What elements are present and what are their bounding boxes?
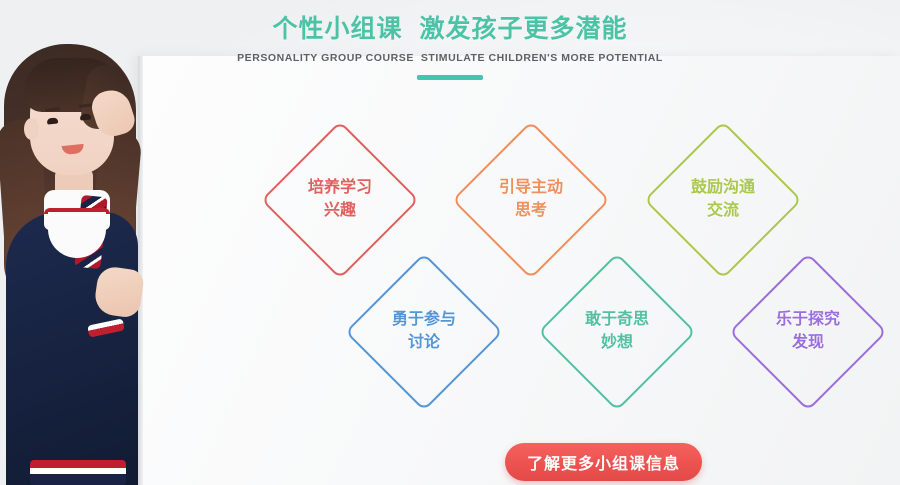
diamond-card-5-line2: 妙想 (601, 332, 633, 355)
whiteboard-panel (138, 56, 900, 485)
promo-banner: 个性小组课 激发孩子更多潜能 PERSONALITY GROUP COURSE … (0, 0, 900, 485)
diamond-card-2-line1: 引导主动 (499, 177, 563, 200)
page-title-part2: 激发孩子更多潜能 (419, 15, 627, 43)
header: 个性小组课 激发孩子更多潜能 PERSONALITY GROUP COURSE … (0, 0, 900, 80)
page-subtitle: PERSONALITY GROUP COURSE STIMULATE CHILD… (0, 52, 900, 64)
diamond-card-4-line2: 讨论 (408, 332, 440, 355)
eye-left (47, 117, 59, 124)
diamond-card-1-line2: 兴趣 (324, 200, 356, 223)
page-title: 个性小组课 激发孩子更多潜能 (0, 0, 900, 45)
page-title-part1: 个性小组课 (273, 15, 403, 43)
diamond-card-3-line1: 鼓励沟通 (691, 177, 755, 200)
eye-right (80, 113, 92, 120)
learn-more-button[interactable]: 了解更多小组课信息 (505, 443, 702, 481)
diamond-card-3-line2: 交流 (707, 200, 739, 223)
diamond-card-6-line2: 发现 (792, 332, 824, 355)
diamond-card-2-line2: 思考 (515, 200, 547, 223)
ear-shape (24, 118, 39, 140)
diamond-card-1-line1: 培养学习 (308, 177, 372, 200)
title-underline-rule (417, 75, 483, 80)
diamond-card-6-line1: 乐于探究 (776, 309, 840, 332)
waistband (30, 460, 126, 485)
diamond-card-5-line1: 敢于奇思 (585, 309, 649, 332)
diamond-card-4-line1: 勇于参与 (392, 309, 456, 332)
